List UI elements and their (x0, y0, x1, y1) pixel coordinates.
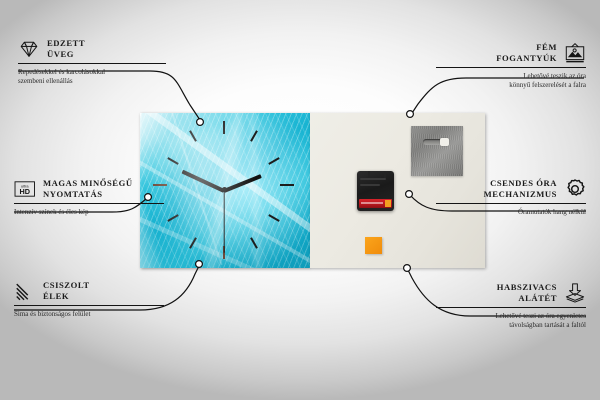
hour-tick (280, 184, 294, 186)
feature-silent-mechanism: CSENDES ÓRA MECHANIZMUS Óramutatók hang … (436, 178, 586, 217)
feature-polished-edges: CSISZOLT ÉLEK Sima és biztonságos felüle… (14, 280, 164, 319)
hour-tick (189, 130, 197, 141)
divider (14, 305, 164, 306)
panel-shade (140, 113, 310, 268)
diamond-icon (18, 38, 40, 60)
feature-description: Repedésekkel és karcolásokkal szembeni e… (18, 68, 166, 86)
feature-high-quality-print: ultra HD MAGAS MINŐSÉGŰ NYOMTATÁS Intenz… (14, 178, 164, 217)
feature-title: EDZETT ÜVEG (47, 38, 85, 59)
gear-icon (564, 178, 586, 200)
clock-movement (357, 171, 394, 211)
foam-pad-icon (564, 282, 586, 304)
divider (436, 307, 586, 308)
feather-highlight (140, 113, 310, 268)
feature-header: CSENDES ÓRA MECHANIZMUS (436, 178, 586, 200)
hanger-slot (423, 139, 449, 145)
hour-tick (250, 130, 258, 141)
polished-edges-icon (14, 280, 36, 302)
feather-highlight (140, 113, 310, 268)
feather-streak (168, 113, 222, 265)
feature-title: CSENDES ÓRA MECHANIZMUS (484, 178, 557, 199)
movement-ridge (360, 178, 386, 180)
hour-tick (223, 246, 225, 259)
feature-description: Intenzív színek és éles kép (14, 208, 164, 217)
infographic-canvas: EDZETT ÜVEG Repedésekkel és karcolásokka… (0, 0, 600, 400)
feature-title: HABSZIVACS ALÁTÉT (497, 282, 557, 303)
feature-title: CSISZOLT ÉLEK (43, 280, 90, 301)
feather-streak (140, 199, 310, 268)
svg-text:HD: HD (19, 187, 29, 196)
battery (359, 199, 392, 208)
feature-foam-underlay: HABSZIVACS ALÁTÉT Lehetővé teszi az óra … (436, 282, 586, 330)
ultra-hd-icon: ultra HD (14, 178, 36, 200)
hour-tick (189, 237, 197, 248)
hour-tick (268, 157, 279, 165)
divider (436, 203, 586, 204)
feature-description: Sima és biztonságos felület (14, 310, 164, 319)
feature-header: HABSZIVACS ALÁTÉT (436, 282, 586, 304)
divider (436, 67, 586, 68)
feature-title: FÉM FOGANTYÚK (496, 42, 557, 63)
movement-loop (368, 171, 386, 178)
feather-streak (140, 143, 310, 268)
movement-ridge (360, 184, 380, 186)
feature-description: Lehetővé teszi az óra egyenletes távolsá… (436, 312, 586, 330)
foam-pad (365, 237, 382, 254)
battery-stripe (361, 202, 383, 204)
feature-description: Óramutatók hang nélkül (436, 208, 586, 217)
feature-title: MAGAS MINŐSÉGŰ NYOMTATÁS (43, 178, 133, 199)
clock-front-panel (140, 113, 310, 268)
feather-streak (140, 113, 310, 246)
picture-hanger-icon (564, 42, 586, 64)
feature-header: ultra HD MAGAS MINŐSÉGŰ NYOMTATÁS (14, 178, 164, 200)
feature-header: FÉM FOGANTYÚK (436, 42, 586, 64)
feature-header: CSISZOLT ÉLEK (14, 280, 164, 302)
divider (18, 63, 166, 64)
divider (14, 203, 164, 204)
hour-tick (167, 157, 178, 165)
second-hand (223, 191, 224, 253)
hour-tick (268, 214, 279, 222)
minute-hand (181, 170, 224, 193)
feature-description: Lehetővé teszik az óra könnyű felszerelé… (436, 72, 586, 90)
feature-metal-handles: FÉM FOGANTYÚK Lehetővé teszik az óra kön… (436, 42, 586, 90)
hour-tick (167, 214, 178, 222)
clock-center-pin (222, 187, 227, 192)
feature-header: EDZETT ÜVEG (18, 38, 166, 60)
product-photo (140, 113, 485, 268)
metal-hanger (411, 126, 463, 176)
hour-tick (223, 121, 225, 134)
hour-tick (250, 237, 258, 248)
feature-tempered-glass: EDZETT ÜVEG Repedésekkel és karcolásokka… (18, 38, 166, 86)
hour-hand (223, 174, 262, 193)
